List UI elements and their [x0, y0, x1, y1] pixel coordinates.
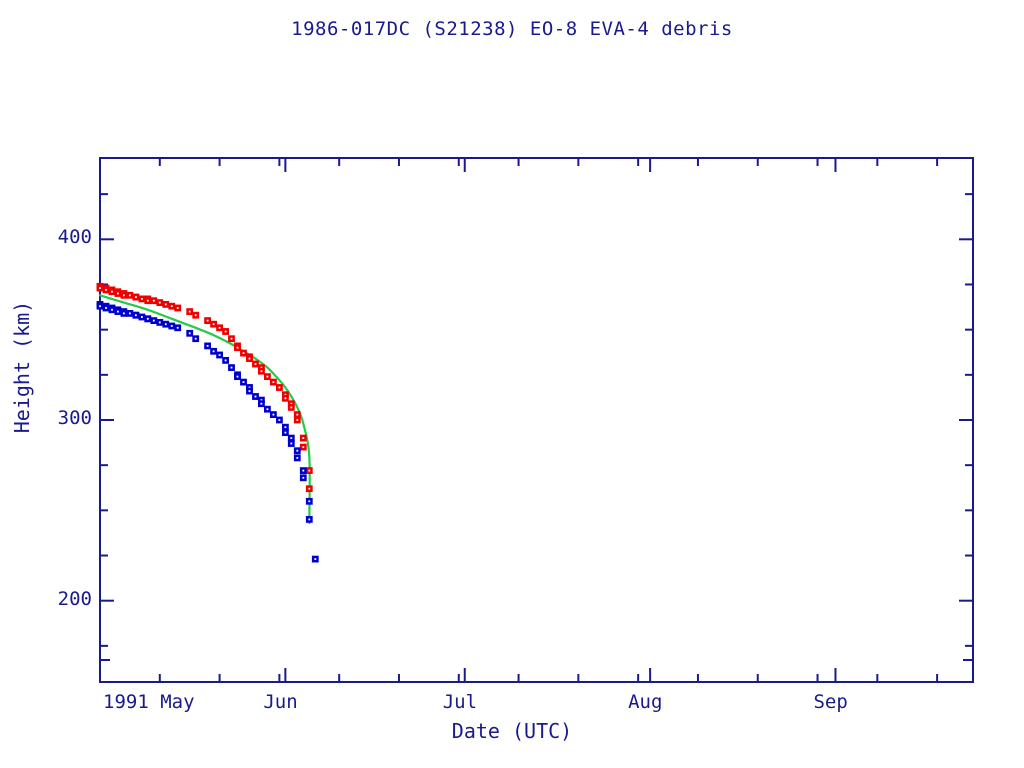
- data-point-core: [195, 338, 197, 340]
- data-point-core: [135, 314, 137, 316]
- data-point-core: [290, 437, 292, 439]
- data-point-core: [279, 387, 281, 389]
- data-point-core: [165, 323, 167, 325]
- data-point-core: [129, 294, 131, 296]
- data-point-core: [308, 519, 310, 521]
- perigee-points: [97, 301, 319, 562]
- data-point-core: [117, 311, 119, 313]
- x-tick-label: Sep: [813, 691, 847, 713]
- data-point-core: [99, 305, 101, 307]
- y-axis-title: Height (km): [10, 297, 34, 437]
- data-point-core: [237, 347, 239, 349]
- data-point-core: [141, 298, 143, 300]
- data-point-core: [285, 426, 287, 428]
- data-point-core: [273, 414, 275, 416]
- data-point-core: [99, 287, 101, 289]
- data-point-core: [105, 289, 107, 291]
- data-point-core: [302, 446, 304, 448]
- data-point-core: [189, 332, 191, 334]
- data-point-core: [255, 396, 257, 398]
- data-point-core: [111, 291, 113, 293]
- data-point-core: [308, 470, 310, 472]
- data-point-core: [123, 294, 125, 296]
- data-point-core: [279, 419, 281, 421]
- data-point-core: [207, 345, 209, 347]
- data-point-core: [237, 376, 239, 378]
- data-point-core: [267, 408, 269, 410]
- data-point-core: [302, 437, 304, 439]
- data-point-core: [267, 376, 269, 378]
- data-point-core: [285, 432, 287, 434]
- data-point-core: [117, 293, 119, 295]
- data-point-core: [225, 360, 227, 362]
- y-tick-label: 400: [46, 226, 92, 248]
- x-tick-label: Aug: [628, 691, 662, 713]
- data-point-core: [207, 320, 209, 322]
- data-point-core: [296, 450, 298, 452]
- data-point-core: [249, 358, 251, 360]
- data-point-core: [153, 320, 155, 322]
- x-axis-ticks: [100, 158, 973, 682]
- x-tick-label: 1991 May: [103, 691, 195, 713]
- data-point-core: [159, 322, 161, 324]
- data-point-core: [296, 414, 298, 416]
- data-point-core: [147, 318, 149, 320]
- data-point-core: [219, 354, 221, 356]
- data-point-core: [189, 311, 191, 313]
- data-point-core: [225, 331, 227, 333]
- decay-curve: [100, 295, 310, 523]
- data-point-core: [290, 407, 292, 409]
- x-tick-label: Jun: [263, 691, 297, 713]
- data-point-core: [153, 300, 155, 302]
- y-axis-ticks: [100, 194, 973, 646]
- data-point-core: [111, 309, 113, 311]
- x-tick-label: Jul: [443, 691, 477, 713]
- data-point-core: [147, 300, 149, 302]
- orbital-decay-chart: 1986-017DC (S21238) EO-8 EVA-4 debris 20…: [0, 0, 1024, 768]
- data-point-core: [308, 488, 310, 490]
- data-point-core: [213, 323, 215, 325]
- data-point-core: [308, 500, 310, 502]
- data-point-core: [243, 352, 245, 354]
- y-tick-label: 200: [46, 588, 92, 610]
- data-point-core: [249, 390, 251, 392]
- data-point-core: [231, 338, 233, 340]
- data-point-core: [302, 477, 304, 479]
- data-point-core: [290, 443, 292, 445]
- data-point-core: [105, 307, 107, 309]
- data-point-core: [171, 325, 173, 327]
- plot-frame: [100, 158, 973, 682]
- data-point-core: [243, 381, 245, 383]
- plot-area: [0, 0, 1024, 768]
- data-point-core: [314, 558, 316, 560]
- data-point-core: [123, 313, 125, 315]
- data-point-core: [195, 314, 197, 316]
- data-point-core: [255, 363, 257, 365]
- data-point-core: [273, 381, 275, 383]
- data-point-core: [177, 307, 179, 309]
- data-point-core: [296, 457, 298, 459]
- data-point-core: [129, 313, 131, 315]
- data-point-core: [296, 419, 298, 421]
- data-point-core: [219, 327, 221, 329]
- data-point-core: [261, 370, 263, 372]
- y-tick-label: 300: [46, 407, 92, 429]
- x-axis-title: Date (UTC): [0, 719, 1024, 743]
- data-point-core: [302, 470, 304, 472]
- data-point-core: [261, 403, 263, 405]
- data-point-core: [165, 304, 167, 306]
- data-point-core: [135, 296, 137, 298]
- data-point-core: [159, 302, 161, 304]
- data-point-core: [171, 305, 173, 307]
- data-point-core: [177, 327, 179, 329]
- data-point-core: [231, 367, 233, 369]
- data-point-core: [285, 397, 287, 399]
- data-point-core: [141, 316, 143, 318]
- data-point-core: [213, 350, 215, 352]
